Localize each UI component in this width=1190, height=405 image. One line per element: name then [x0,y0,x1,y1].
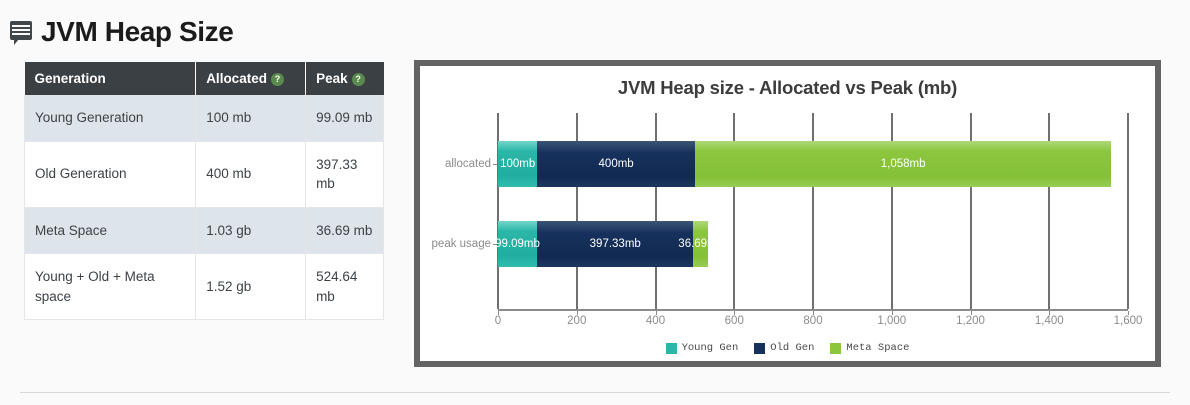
bar-segment-old-gen-allocated[interactable]: 400mb [537,141,695,187]
legend-item-young-gen[interactable]: Young Gen [666,342,739,354]
legend-swatch-meta-space [830,343,841,354]
bar-label-young-gen-peak: 99.09mb [495,238,540,250]
bar-label-meta-space-allocated: 1,058mb [881,158,926,170]
legend-swatch-old-gen [754,343,765,354]
x-tick-label: 800 [803,315,822,327]
cell-peak: 36.69 mb [306,207,384,254]
bar-segment-young-gen-allocated[interactable]: 100mb [498,141,537,187]
list-bubble-icon [10,20,32,44]
cell-allocated: 1.03 gb [196,207,306,254]
column-header-allocated[interactable]: Allocated? [196,62,306,95]
bar-label-old-gen-peak: 397.33mb [590,238,641,250]
x-tick-label: 1,000 [877,315,906,327]
legend-label-young-gen: Young Gen [682,342,739,354]
cell-allocated: 400 mb [196,141,306,207]
table-header-row: Generation Allocated? Peak? [25,62,384,95]
jvm-heap-chart: JVM Heap size - Allocated vs Peak (mb) 0… [414,60,1161,367]
x-tick-label: 0 [495,315,501,327]
bar-label-old-gen-allocated: 400mb [599,158,634,170]
cell-peak: 397.33 mb [306,141,384,207]
x-tick-label: 600 [725,315,744,327]
column-label-peak: Peak [316,71,348,86]
column-header-generation[interactable]: Generation [25,62,196,95]
column-header-peak[interactable]: Peak? [306,62,384,95]
footer-divider [20,392,1170,393]
cell-generation: Young Generation [25,95,196,141]
cell-generation: Meta Space [25,207,196,254]
legend-swatch-young-gen [666,343,677,354]
bar-segment-old-gen-peak[interactable]: 397.33mb [537,221,693,267]
axis-label-peak-usage: peak usage [432,238,491,250]
cell-allocated: 1.52 gb [196,254,306,320]
x-tick-label: 1,400 [1035,315,1064,327]
cell-generation: Old Generation [25,141,196,207]
x-tick-label: 200 [567,315,586,327]
bar-segment-meta-space-peak[interactable]: 36.69mb [693,221,707,267]
page-title: JVM Heap Size [41,18,233,46]
legend-label-old-gen: Old Gen [770,342,814,354]
bar-label-young-gen-allocated: 100mb [500,158,535,170]
table-row: Young + Old + Meta space 1.52 gb 524.64 … [25,254,384,320]
column-label-generation: Generation [35,71,106,86]
help-icon-allocated[interactable]: ? [271,73,284,86]
legend-item-meta-space[interactable]: Meta Space [830,342,909,354]
table-body: Young Generation 100 mb 99.09 mb Old Gen… [25,95,384,320]
cell-allocated: 100 mb [196,95,306,141]
axis-label-allocated: allocated [445,158,491,170]
page-header: JVM Heap Size [0,0,1190,52]
x-tick-label: 1,200 [956,315,985,327]
heap-table: Generation Allocated? Peak? Young Genera… [24,62,384,320]
content-area: Generation Allocated? Peak? Young Genera… [0,52,1190,367]
bar-segment-meta-space-allocated[interactable]: 1,058mb [695,141,1112,187]
chart-x-axis: 02004006008001,0001,2001,4001,600 [498,311,1128,331]
bar-segment-young-gen-peak[interactable]: 99.09mb [498,221,537,267]
legend-label-meta-space: Meta Space [846,342,909,354]
bar-group-peak-usage: peak usage 99.09mb 397.33mb 36.69mb [498,221,1128,267]
chart-legend: Young Gen Old Gen Meta Space [420,342,1155,354]
help-icon-peak[interactable]: ? [352,73,365,86]
column-label-allocated: Allocated [206,71,267,86]
chart-plot-area: 02004006008001,0001,2001,4001,600 alloca… [420,104,1155,361]
table-head: Generation Allocated? Peak? [25,62,384,95]
cell-peak: 99.09 mb [306,95,384,141]
table-row: Meta Space 1.03 gb 36.69 mb [25,207,384,254]
bar-group-allocated: allocated 100mb 400mb 1,058mb [498,141,1128,187]
x-tick-label: 1,600 [1114,315,1143,327]
table-row: Young Generation 100 mb 99.09 mb [25,95,384,141]
table-row: Old Generation 400 mb 397.33 mb [25,141,384,207]
heap-table-container: Generation Allocated? Peak? Young Genera… [24,62,384,320]
legend-item-old-gen[interactable]: Old Gen [754,342,814,354]
bar-label-meta-space-peak: 36.69mb [678,238,723,250]
chart-title: JVM Heap size - Allocated vs Peak (mb) [420,66,1155,99]
x-tick-label: 400 [646,315,665,327]
cell-generation: Young + Old + Meta space [25,254,196,320]
cell-peak: 524.64 mb [306,254,384,320]
